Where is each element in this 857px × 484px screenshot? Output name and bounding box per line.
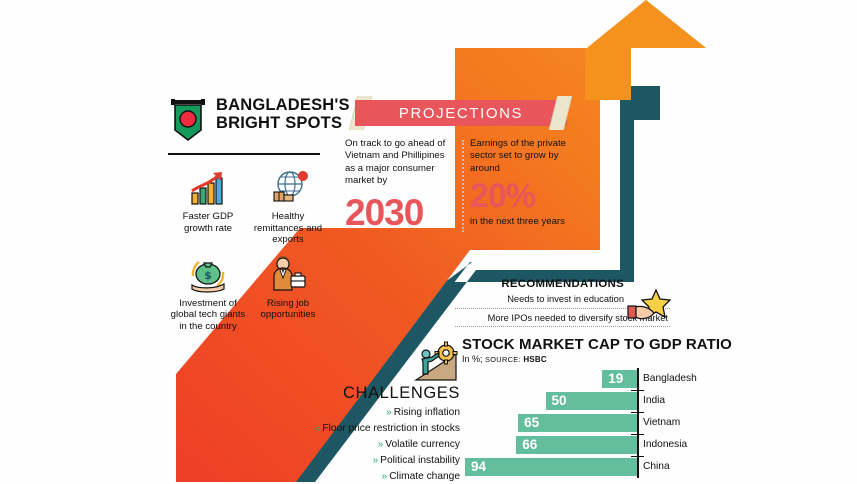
bright-spots-panel: BANGLADESH'S BRIGHT SPOTS Faster GDP gro… [168, 96, 328, 339]
projection-right-text: Earnings of the private sector set to gr… [470, 138, 577, 175]
chart-axis-line [637, 368, 639, 478]
projections-columns: On track to go ahead of Vietnam and Phil… [345, 138, 577, 232]
bright-spots-header: BANGLADESH'S BRIGHT SPOTS [168, 96, 328, 144]
projection-right-footnote: in the next three years [470, 216, 577, 228]
bright-spot-label: Faster GDP growth rate [168, 211, 248, 234]
stock-market-cap-chart: STOCK MARKET CAP TO GDP RATIO In %; SOUR… [462, 336, 852, 478]
chart-bar-value: 50 [552, 392, 567, 410]
chevron-bullet-icon: » [373, 455, 378, 466]
bar-chart-growth-icon [168, 165, 248, 207]
challenge-item: »Floor price restriction in stocks [255, 422, 460, 436]
bright-spot-item: $ Investment of global tech giants in th… [168, 252, 248, 333]
infographic-canvas: BANGLADESH'S BRIGHT SPOTS Faster GDP gro… [0, 0, 857, 482]
chart-bar-value: 66 [522, 436, 537, 454]
businessman-briefcase-icon [248, 252, 328, 294]
chart-category-label: Bangladesh [643, 370, 697, 388]
chart-subtitle: In %; SOURCE: HSBC [462, 354, 852, 364]
challenge-label: Floor price restriction in stocks [322, 423, 460, 434]
chart-plot-area: 19Bangladesh50India65Vietnam66Indonesia9… [462, 368, 852, 478]
challenge-label: Political instability [380, 455, 460, 466]
bright-spot-label: Healthy remittances and exports [248, 211, 328, 246]
chart-bar-value: 65 [524, 414, 539, 432]
chart-category-label: Vietnam [643, 414, 680, 432]
challenge-label: Volatile currency [385, 439, 460, 450]
svg-text:$: $ [204, 269, 212, 282]
bangladesh-pennant-flag-icon [168, 98, 208, 144]
arrow-head [585, 0, 706, 100]
bright-spots-title: BANGLADESH'S BRIGHT SPOTS [216, 96, 350, 133]
chart-source-name: HSBC [523, 355, 546, 364]
challenge-item: »Volatile currency [255, 438, 460, 452]
projection-right-number: 20% [470, 179, 577, 213]
projection-left: On track to go ahead of Vietnam and Phil… [345, 138, 462, 232]
bright-spot-label: Investment of global tech giants in the … [168, 298, 248, 333]
hand-holding-star-icon [626, 286, 682, 326]
chart-source-label: SOURCE: [485, 355, 521, 364]
challenge-label: Climate change [389, 471, 460, 482]
vertical-dotted-divider [462, 140, 464, 232]
globe-boxes-export-icon [248, 165, 328, 207]
chart-bar [465, 458, 637, 476]
hand-money-bag-icon: $ [168, 252, 248, 294]
bright-spot-item: Healthy remittances and exports [248, 165, 328, 246]
chevron-bullet-icon: » [382, 471, 387, 482]
challenge-item: »Rising inflation [255, 406, 460, 420]
projection-right: Earnings of the private sector set to gr… [470, 138, 577, 232]
projections-title: PROJECTIONS [345, 100, 577, 126]
person-pushing-gear-uphill-icon [412, 340, 460, 384]
divider-rule [168, 153, 320, 155]
chevron-bullet-icon: » [386, 407, 391, 418]
chart-category-label: India [643, 392, 665, 410]
projection-left-number: 2030 [345, 194, 454, 231]
challenge-item: »Political instability [255, 454, 460, 468]
bright-spot-label: Rising job opportunities [248, 298, 328, 321]
challenges-panel: CHALLENGES »Rising inflation »Floor pric… [255, 342, 460, 484]
chart-category-label: China [643, 458, 670, 476]
bright-spot-item: Faster GDP growth rate [168, 165, 248, 246]
chart-bar-value: 94 [471, 458, 486, 476]
chart-category-label: Indonesia [643, 436, 687, 454]
bright-spots-grid: Faster GDP growth rate [168, 165, 328, 339]
chevron-bullet-icon: » [378, 439, 383, 450]
chart-unit: In %; [462, 354, 483, 364]
bright-spot-item: Rising job opportunities [248, 252, 328, 333]
projections-banner: PROJECTIONS [345, 96, 577, 130]
challenges-title: CHALLENGES [255, 384, 460, 403]
chart-bar-value: 19 [608, 370, 623, 388]
challenges-list: »Rising inflation »Floor price restricti… [255, 406, 460, 484]
projections-panel: PROJECTIONS On track to go ahead of Viet… [345, 96, 577, 232]
challenge-label: Rising inflation [394, 407, 460, 418]
recommendations-panel: RECOMMENDATIONS Needs to invest in educa… [455, 278, 670, 327]
chart-title: STOCK MARKET CAP TO GDP RATIO [462, 336, 852, 353]
projection-left-text: On track to go ahead of Vietnam and Phil… [345, 138, 454, 188]
chevron-bullet-icon: » [315, 423, 320, 434]
